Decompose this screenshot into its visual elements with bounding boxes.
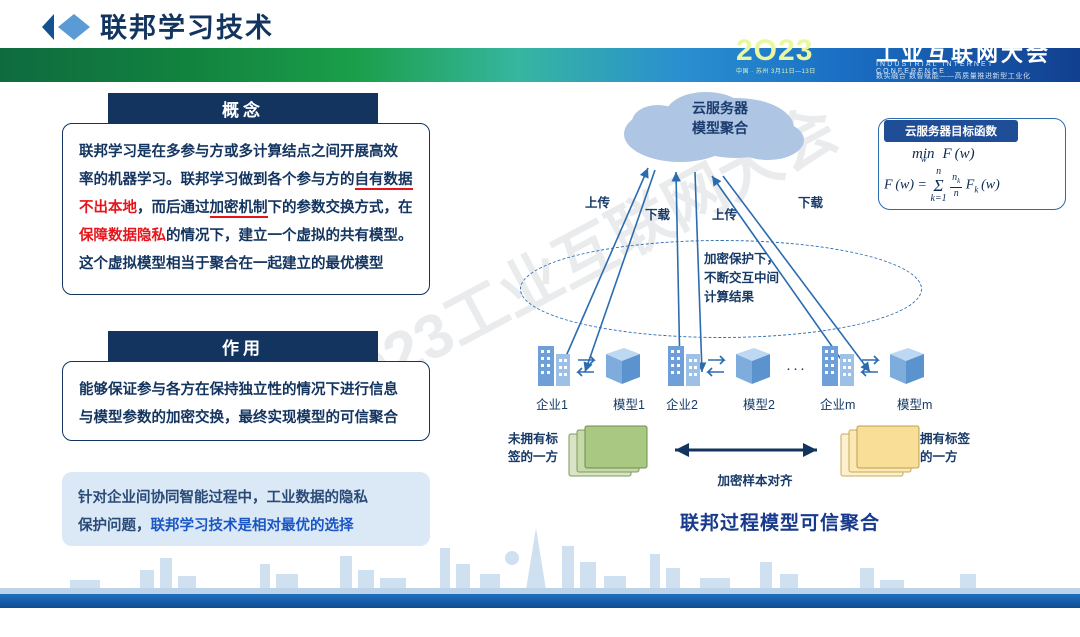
arrow-label-download-2: 下载 (798, 192, 823, 211)
encryption-note: 加密保护下， 不断交互中间 计算结果 (704, 250, 810, 307)
concept-text-line-5: 这个虚拟模型相当于聚合在一起建立的最优模型 (79, 250, 413, 278)
entity-label-m: 企业m (820, 394, 855, 413)
model-label-1: 模型1 (613, 394, 645, 413)
summary-note-text-line-1: 针对企业间协同智能过程中，工业数据的隐私 (78, 484, 414, 512)
footer-water-band (0, 594, 1080, 608)
effect-text-line-2: 与模型参数的加密交换，最终实现模型的可信聚合 (79, 404, 413, 432)
right-party-label: 拥有标签 的一方 (920, 430, 1000, 466)
conference-year-sub: 中国 · 苏州 3月11日—13日 (736, 66, 816, 75)
effect-card-header: 作用 (108, 331, 378, 361)
concept-text-line-1: 联邦学习是在多参与方或多计算结点之间开展高效 (79, 138, 413, 166)
objective-function-title: 云服务器目标函数 (884, 120, 1018, 142)
arrow-label-upload-1: 上传 (585, 192, 610, 211)
model-label-m: 模型m (897, 394, 932, 413)
cloud-server-label: 云服务器 模型聚合 (640, 98, 800, 138)
slide: 联邦学习技术 2O23 中国 · 苏州 3月11日—13日 工业互联网大会 IN… (0, 0, 1080, 608)
sample-alignment-label: 加密样本对齐 (680, 470, 830, 489)
entity-label-1: 企业1 (536, 394, 568, 413)
page-title: 联邦学习技术 (100, 6, 274, 45)
model-cube-2 (736, 348, 770, 384)
conference-logo: 2O23 中国 · 苏州 3月11日—13日 工业互联网大会 INDUSTRIA… (736, 36, 1066, 84)
entity-label-2: 企业2 (666, 394, 698, 413)
effect-text-line-1: 能够保证参与各方在保持独立性的情况下进行信息 (79, 376, 413, 404)
effect-card-body: 能够保证参与各方在保持独立性的情况下进行信息与模型参数的加密交换，最终实现模型的… (62, 361, 430, 441)
labeled-data-stack (841, 426, 919, 476)
entity-ellipsis: ··· (786, 360, 807, 377)
model-label-2: 模型2 (743, 394, 775, 413)
left-party-label: 未拥有标 签的一方 (488, 430, 558, 466)
conference-tagline: 数实融合 数智赋能——高质量推进新型工业化 (876, 71, 1031, 81)
conference-year: 2O23 (736, 34, 813, 68)
model-cube-1 (606, 348, 640, 384)
double-diamond-logo (28, 12, 92, 42)
concept-card-body: 联邦学习是在多参与方或多计算结点之间开展高效率的机器学习。联邦学习做到各个参与方… (62, 123, 430, 295)
concept-card-header: 概念 (108, 93, 378, 123)
arrow-label-download-1: 下载 (645, 204, 670, 223)
unlabeled-data-stack (569, 426, 647, 476)
entity-icons-row (520, 340, 940, 392)
concept-text-line-4: 保障数据隐私的情况下，建立一个虚拟的共有模型。 (79, 222, 413, 250)
concept-text-line-2: 率的机器学习。联邦学习做到各个参与方的自有数据 (79, 166, 413, 194)
enterprise-icon-2 (668, 346, 700, 386)
model-cube-m (890, 348, 924, 384)
enterprise-icon-1 (538, 346, 570, 386)
arrow-label-upload-2: 上传 (712, 204, 737, 223)
enterprise-icon-m (822, 346, 854, 386)
concept-text-line-3: 不出本地，而后通过加密机制下的参数交换方式，在 (79, 194, 413, 222)
